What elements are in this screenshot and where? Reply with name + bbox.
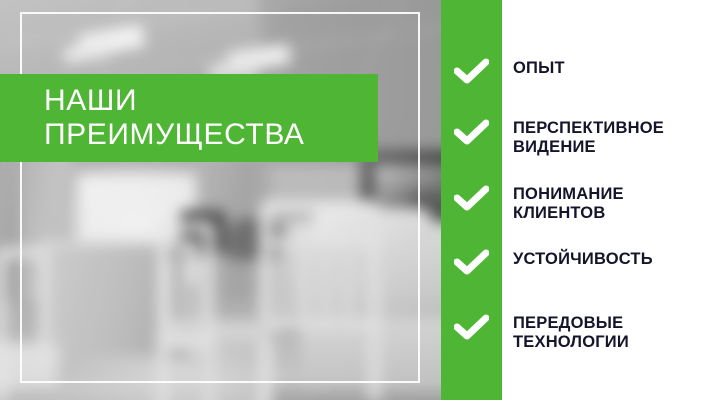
check-icon [454, 249, 489, 275]
benefit-label: ПОНИМАНИЕ [513, 185, 709, 204]
benefit-label: ВИДЕНИЕ [513, 138, 709, 157]
benefit-label: ПЕРСПЕКТИВНОЕ [513, 119, 709, 138]
background-photo [0, 0, 441, 400]
check-icon [454, 314, 489, 340]
benefit-label: ПЕРЕДОВЫЕ [513, 314, 709, 333]
benefit-item-3: ПОНИМАНИЕ КЛИЕНТОВ [513, 185, 709, 223]
title-line-2: ПРЕИМУЩЕСТВА [44, 118, 378, 152]
check-icon [454, 185, 489, 211]
photo-tint-overlay [0, 0, 441, 400]
title-banner: НАШИ ПРЕИМУЩЕСТВА [0, 74, 378, 162]
title-line-1: НАШИ [44, 84, 378, 118]
benefit-item-4: УСТОЙЧИВОСТЬ [513, 250, 709, 269]
benefit-label: ОПЫТ [513, 59, 709, 78]
benefit-label: УСТОЙЧИВОСТЬ [513, 250, 709, 269]
check-icon [454, 119, 489, 145]
benefit-item-1: ОПЫТ [513, 59, 709, 78]
benefit-item-5: ПЕРЕДОВЫЕ ТЕХНОЛОГИИ [513, 314, 709, 352]
check-icon [454, 58, 489, 84]
benefit-label: КЛИЕНТОВ [513, 204, 709, 223]
benefit-item-2: ПЕРСПЕКТИВНОЕ ВИДЕНИЕ [513, 119, 709, 157]
benefit-label: ТЕХНОЛОГИИ [513, 333, 709, 352]
slide-root: НАШИ ПРЕИМУЩЕСТВА ОПЫТ ПЕРСПЕКТИВНОЕ ВИД… [0, 0, 716, 400]
